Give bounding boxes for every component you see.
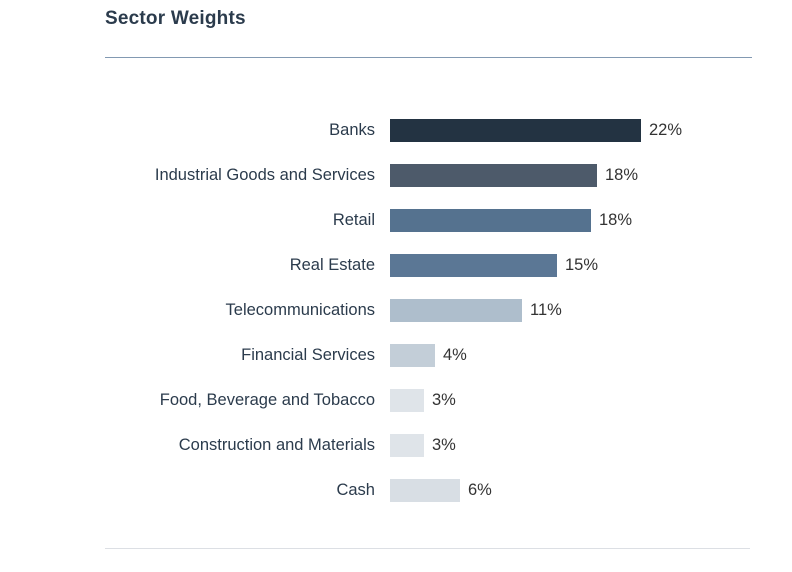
value-label: 3% [432, 437, 456, 454]
bar-area: 4% [375, 333, 792, 378]
chart-row: Food, Beverage and Tobacco3% [0, 378, 792, 423]
chart-row: Retail18% [0, 198, 792, 243]
chart-row: Industrial Goods and Services18% [0, 153, 792, 198]
bar-area: 3% [375, 378, 792, 423]
value-label: 22% [649, 122, 682, 139]
chart-row: Real Estate15% [0, 243, 792, 288]
category-label: Cash [0, 482, 375, 499]
category-label: Financial Services [0, 347, 375, 364]
chart-row: Construction and Materials3% [0, 423, 792, 468]
bar [390, 209, 591, 232]
bar [390, 434, 424, 457]
page-title: Sector Weights [105, 8, 246, 30]
bar-area: 18% [375, 153, 792, 198]
value-label: 18% [599, 212, 632, 229]
category-label: Industrial Goods and Services [0, 167, 375, 184]
value-label: 15% [565, 257, 598, 274]
bar-area: 11% [375, 288, 792, 333]
category-label: Construction and Materials [0, 437, 375, 454]
chart-row: Telecommunications11% [0, 288, 792, 333]
category-label: Real Estate [0, 257, 375, 274]
category-label: Banks [0, 122, 375, 139]
title-divider [105, 57, 752, 58]
sector-weights-panel: Sector Weights Banks22%Industrial Goods … [0, 0, 792, 572]
bar [390, 389, 424, 412]
chart-row: Financial Services4% [0, 333, 792, 378]
sector-weights-bar-chart: Banks22%Industrial Goods and Services18%… [0, 108, 792, 513]
bar [390, 344, 435, 367]
bar [390, 164, 597, 187]
value-label: 6% [468, 482, 492, 499]
bar [390, 299, 522, 322]
value-label: 3% [432, 392, 456, 409]
category-label: Retail [0, 212, 375, 229]
category-label: Telecommunications [0, 302, 375, 319]
value-label: 4% [443, 347, 467, 364]
bar-area: 6% [375, 468, 792, 513]
chart-row: Banks22% [0, 108, 792, 153]
bottom-divider [105, 548, 750, 549]
category-label: Food, Beverage and Tobacco [0, 392, 375, 409]
bar [390, 119, 641, 142]
value-label: 11% [530, 302, 562, 319]
bar-area: 15% [375, 243, 792, 288]
bar [390, 479, 460, 502]
bar [390, 254, 557, 277]
value-label: 18% [605, 167, 638, 184]
bar-area: 3% [375, 423, 792, 468]
bar-area: 18% [375, 198, 792, 243]
bar-area: 22% [375, 108, 792, 153]
chart-row: Cash6% [0, 468, 792, 513]
